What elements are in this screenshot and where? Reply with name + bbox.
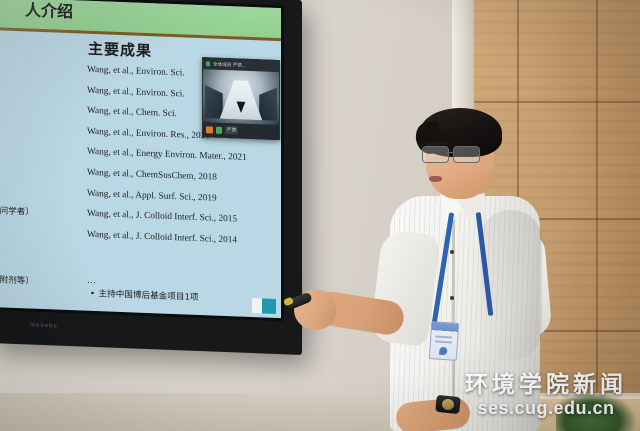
bullet-dot-icon [91,292,94,295]
conference-badge [429,321,460,361]
shirt-button [450,250,454,254]
slide-ellipsis: … [87,275,96,285]
lens-left [422,146,449,163]
status-dot-icon [206,61,210,66]
display-brand-logo: mebebe [20,320,68,331]
watermark-name: 环境学院新闻 [452,372,640,398]
presentation-photo: 人介绍 主要成果 Wang, et al., Environ. Sci. Wan… [0,0,640,431]
conference-seating-left [205,81,223,119]
pip-footer-label: 严禁 [225,126,238,135]
wood-seam [596,0,598,395]
watermark: 环境学院新闻 ses.cug.edu.cn [452,372,640,428]
mouth [429,176,442,182]
lens-right [453,146,480,163]
slide-header-text: 人介绍 [25,0,73,22]
badge-logo-icon [439,347,448,356]
slide-bullet-text: 主持中国博后基金项目1项 [99,287,199,303]
eyeglasses [422,146,484,162]
slide-left-fragment: 方问学者） [0,204,34,218]
wall-display[interactable]: 人介绍 主要成果 Wang, et al., Environ. Sci. Wan… [0,0,302,355]
conference-seating-right [259,83,277,121]
camera-icon[interactable] [206,126,213,133]
video-conference-pip[interactable]: 全体成员 严禁... 严禁 [202,57,280,140]
pip-title-text: 全体成员 严禁... [213,61,246,68]
slide-left-fragment: 及附剂等） [0,273,34,287]
glasses-bridge [447,152,454,153]
badge-text-line [435,335,452,338]
display-corner-tag [252,298,276,314]
pip-video-feed [203,69,279,125]
display-screen: 人介绍 主要成果 Wang, et al., Environ. Sci. Wan… [0,0,281,318]
badge-text-line [435,340,452,343]
conference-table [220,79,263,120]
slide-bullet-row: 主持中国博后基金项目1项 [91,287,199,303]
watermark-url: ses.cug.edu.cn [452,398,640,419]
pip-toolbar[interactable]: 严禁 [203,122,279,139]
slide-title: 主要成果 [88,38,152,61]
shirt-button [450,296,454,300]
display-bezel-inner: 人介绍 主要成果 Wang, et al., Environ. Sci. Wan… [0,0,284,321]
microphone-icon[interactable] [216,126,222,133]
